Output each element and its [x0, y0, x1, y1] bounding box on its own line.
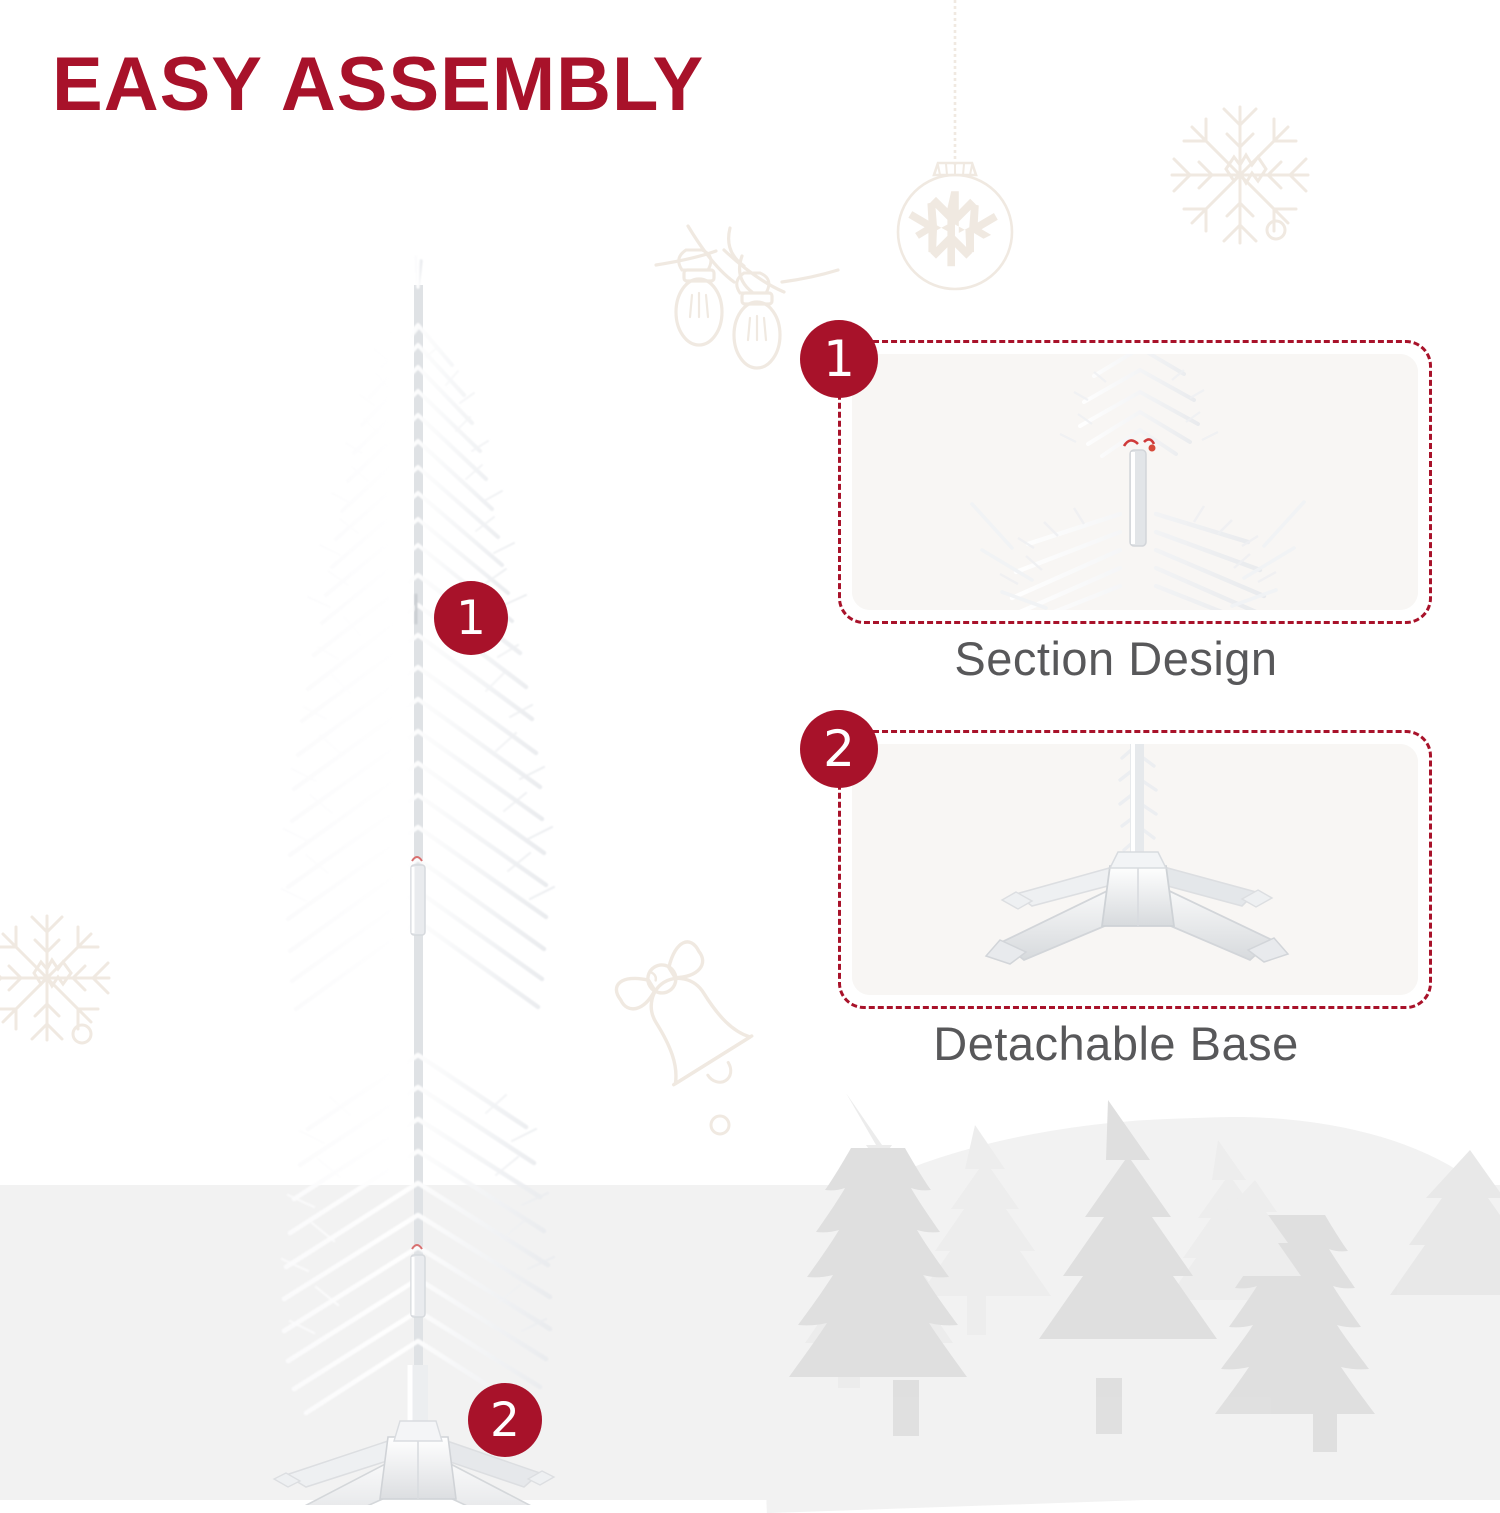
callout-photo-stand	[852, 744, 1418, 995]
snowflake-icon-left	[0, 916, 109, 1040]
pine-tree-silhouettes	[789, 1093, 1500, 1452]
decor-dot-top-right	[1267, 221, 1285, 239]
hanging-ornament-icon	[898, 0, 1012, 289]
callout-badge-2: 2	[800, 710, 878, 788]
decor-dot-bell	[711, 1116, 729, 1134]
snow-hill	[754, 1107, 1500, 1513]
section-joint-pole	[411, 857, 425, 935]
snowflake-icon-top-right	[1172, 107, 1308, 243]
callout-list: 1	[800, 340, 1460, 1089]
callout-label-2: Detachable Base	[800, 1017, 1432, 1071]
ornament-snowflake-fill	[908, 191, 997, 266]
bell-icon	[612, 938, 764, 1105]
decor-dot-left	[73, 1025, 91, 1043]
callout-section-design: 1	[800, 340, 1460, 686]
callout-label-1: Section Design	[800, 632, 1432, 686]
product-marker-2: 2	[468, 1383, 542, 1457]
callout-gap	[800, 704, 1460, 730]
product-image-tree	[210, 215, 630, 1505]
section-joint-pole-lower	[411, 1245, 425, 1317]
callout-detachable-base: 2	[800, 730, 1460, 1071]
callout-frame-2	[838, 730, 1432, 1009]
page-title: EASY ASSEMBLY	[52, 47, 704, 123]
infographic-canvas: EASY ASSEMBLY	[0, 0, 1500, 1500]
callout-frame-1	[838, 340, 1432, 624]
callout-photo-section-joint	[852, 354, 1418, 610]
product-marker-1: 1	[434, 581, 508, 655]
callout-badge-1: 1	[800, 320, 878, 398]
